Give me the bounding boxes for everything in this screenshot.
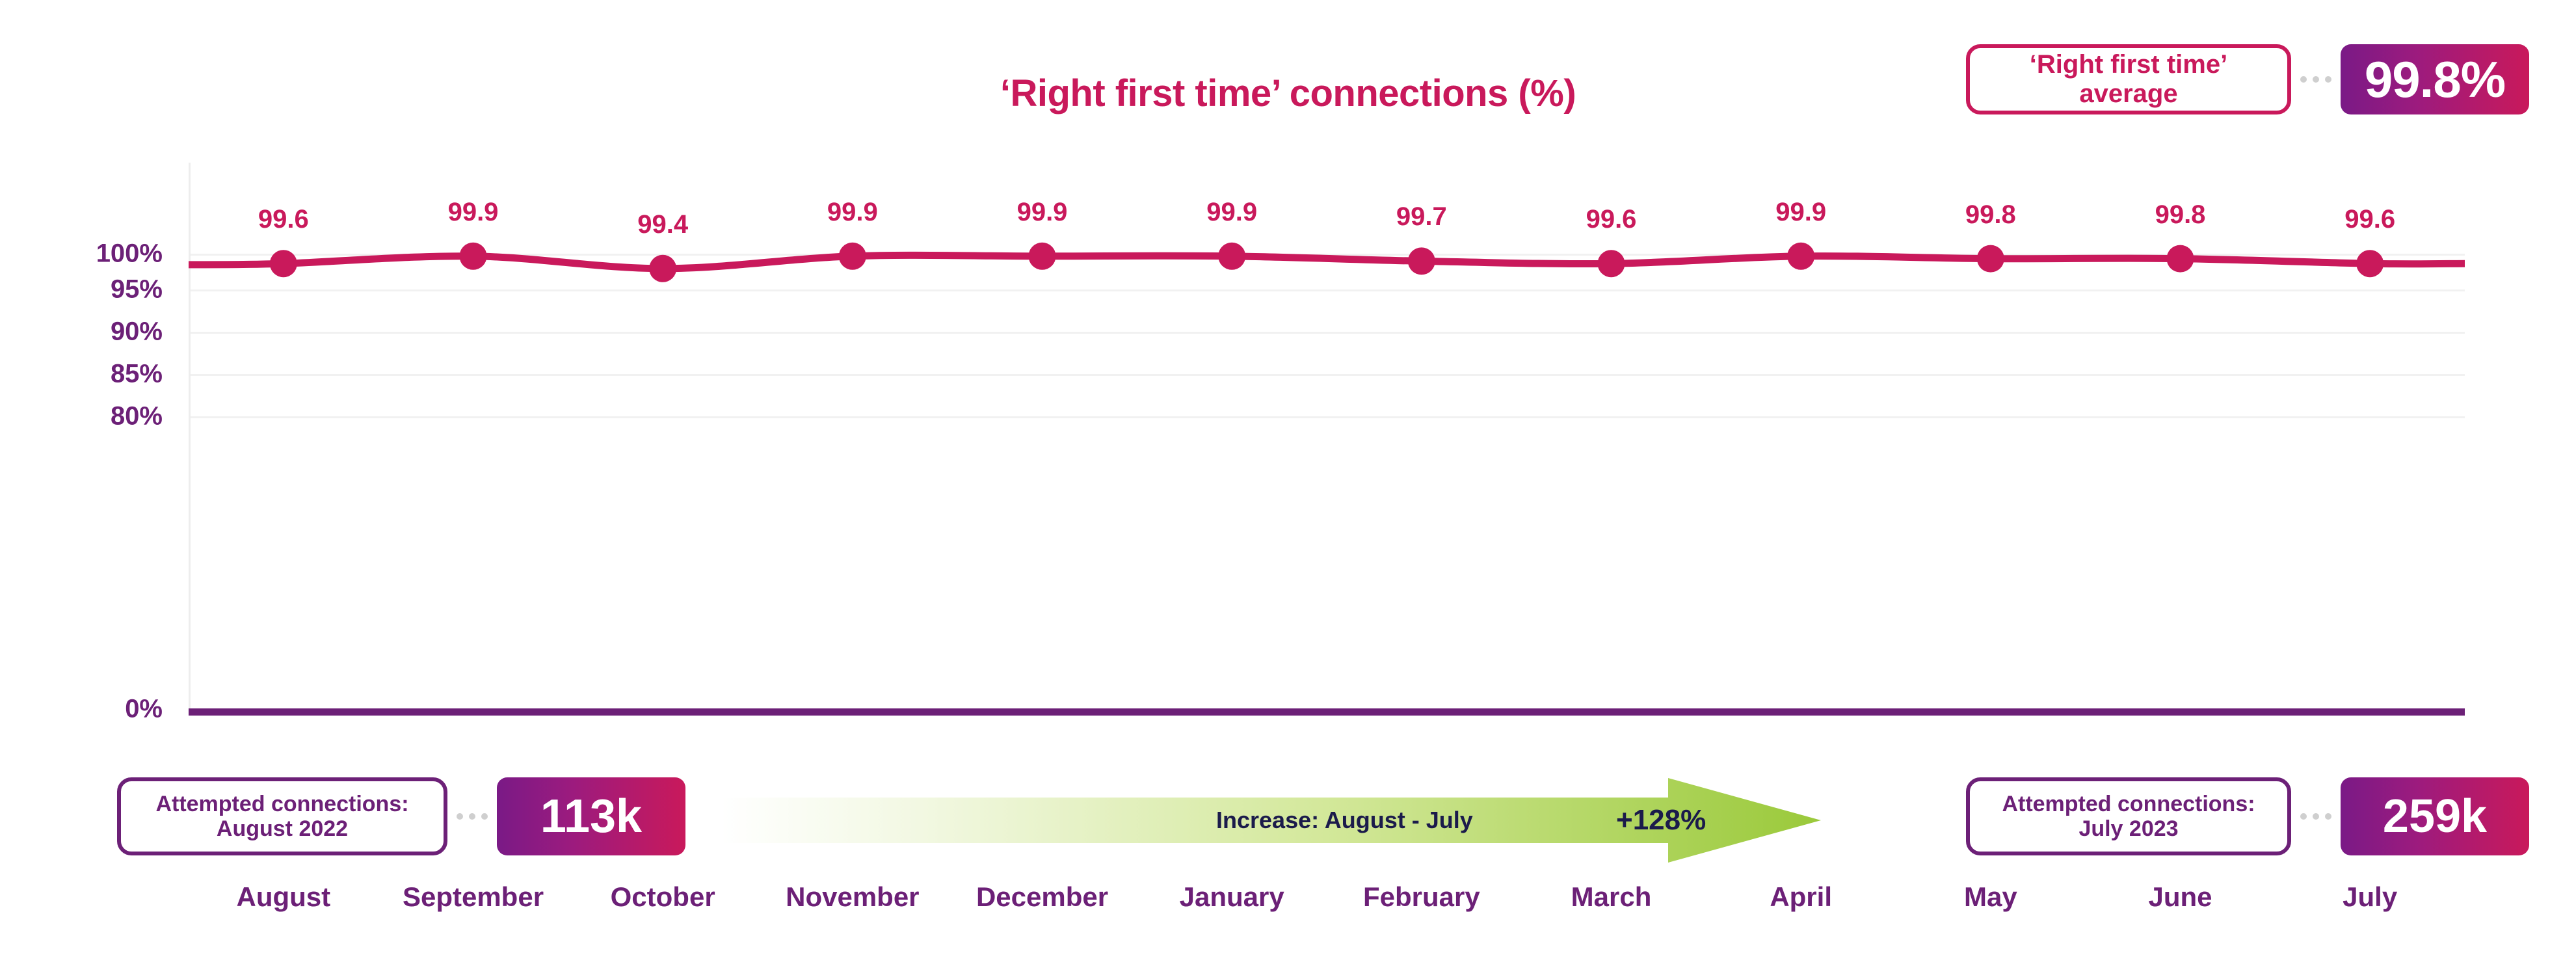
data-point-marker bbox=[1977, 245, 2004, 273]
data-point-label: 99.9 bbox=[1775, 198, 1826, 227]
end-badge-label-line2: July 2023 bbox=[2078, 816, 2178, 841]
x-axis: AugustSeptemberOctoberNovemberDecemberJa… bbox=[189, 881, 2465, 927]
three-dots-icon bbox=[447, 813, 497, 820]
data-point-marker bbox=[649, 255, 676, 282]
data-point-label: 99.6 bbox=[1586, 205, 1637, 234]
y-axis-tick: 100% bbox=[96, 239, 163, 269]
start-badge-value: 113k bbox=[497, 777, 685, 855]
data-point-label: 99.6 bbox=[2344, 205, 2395, 234]
data-point-marker bbox=[2356, 250, 2383, 277]
x-axis-tick: February bbox=[1363, 881, 1480, 913]
y-axis-tick: 90% bbox=[111, 317, 163, 347]
average-badge-label: ‘Right first time’ average bbox=[1966, 44, 2291, 114]
end-badge-label: Attempted connections: July 2023 bbox=[1966, 777, 2291, 855]
data-point-marker bbox=[1218, 243, 1245, 270]
y-axis-tick: 80% bbox=[111, 402, 163, 431]
start-badge-label-line1: Attempted connections: bbox=[155, 792, 408, 816]
average-badge-value: 99.8% bbox=[2341, 44, 2529, 114]
attempted-connections-start-badge: Attempted connections: August 2022 113k bbox=[117, 777, 685, 855]
data-point-marker bbox=[1029, 243, 1056, 270]
data-point-label: 99.9 bbox=[1017, 198, 1068, 227]
data-point-marker bbox=[460, 243, 487, 270]
line-series bbox=[189, 163, 2465, 716]
x-axis-tick: June bbox=[2148, 881, 2212, 913]
x-axis-tick: August bbox=[237, 881, 331, 913]
x-axis-tick: September bbox=[403, 881, 544, 913]
chart-header: ‘Right first time’ connections (%) ‘Righ… bbox=[0, 0, 2576, 163]
data-point-label: 99.9 bbox=[827, 198, 878, 227]
data-point-label: 99.8 bbox=[2155, 200, 2206, 230]
x-axis-tick: July bbox=[2343, 881, 2397, 913]
x-axis-tick: December bbox=[976, 881, 1108, 913]
data-point-marker bbox=[1408, 247, 1435, 275]
start-badge-label-line2: August 2022 bbox=[217, 816, 348, 841]
data-point-label: 99.8 bbox=[1965, 200, 2016, 230]
data-point-label: 99.9 bbox=[448, 198, 499, 227]
end-badge-value: 259k bbox=[2341, 777, 2529, 855]
y-axis-tick: 0% bbox=[125, 695, 163, 724]
right-arrow-icon bbox=[722, 778, 1821, 863]
attempted-connections-end-badge: Attempted connections: July 2023 259k bbox=[1966, 777, 2529, 855]
data-point-marker bbox=[1787, 243, 1814, 270]
data-point-label: 99.7 bbox=[1396, 202, 1447, 232]
x-axis-tick: April bbox=[1770, 881, 1832, 913]
data-point-label: 99.6 bbox=[258, 205, 309, 234]
x-axis-tick: March bbox=[1571, 881, 1652, 913]
plot-area: 99.699.999.499.999.999.999.799.699.999.8… bbox=[189, 163, 2465, 716]
data-point-marker bbox=[1598, 250, 1625, 277]
x-axis-tick: October bbox=[611, 881, 715, 913]
data-point-marker bbox=[839, 243, 866, 270]
x-axis-tick: January bbox=[1180, 881, 1284, 913]
y-axis: 100%95%90%85%80%0% bbox=[0, 163, 189, 716]
x-axis-tick: May bbox=[1964, 881, 2017, 913]
data-point-marker bbox=[2167, 245, 2194, 273]
data-point-label: 99.9 bbox=[1206, 198, 1257, 227]
end-badge-label-line1: Attempted connections: bbox=[2002, 792, 2255, 816]
three-dots-icon bbox=[2291, 813, 2341, 820]
chart-plot: 100%95%90%85%80%0% 99.699.999.499.999.99… bbox=[0, 163, 2576, 716]
average-badge-group: ‘Right first time’ average 99.8% bbox=[1966, 44, 2529, 114]
start-badge-label: Attempted connections: August 2022 bbox=[117, 777, 447, 855]
x-axis-tick: November bbox=[786, 881, 919, 913]
y-axis-tick: 85% bbox=[111, 360, 163, 389]
data-point-marker bbox=[270, 250, 297, 277]
three-dots-icon bbox=[2291, 76, 2341, 83]
increase-arrow: Increase: August - July +128% bbox=[722, 778, 1821, 863]
data-point-label: 99.4 bbox=[637, 210, 688, 239]
y-axis-tick: 95% bbox=[111, 275, 163, 304]
